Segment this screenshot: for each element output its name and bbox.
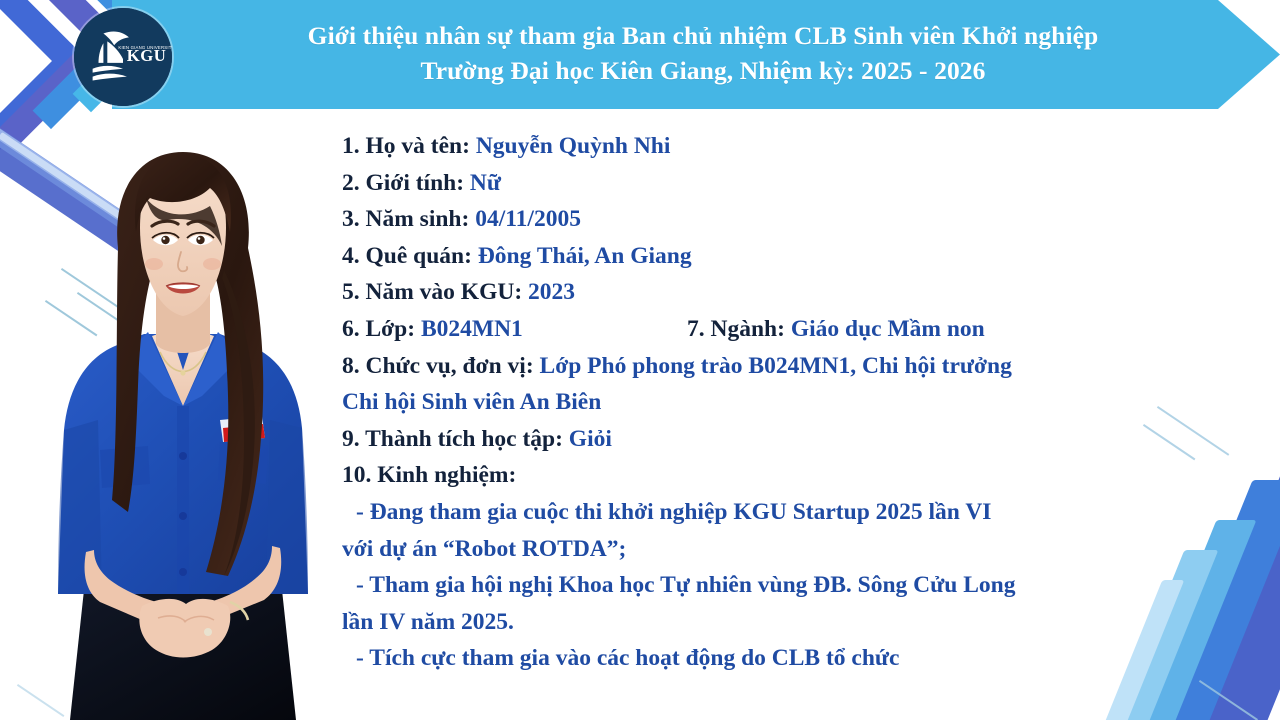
field-number: 8. bbox=[342, 353, 360, 379]
info-row-experience-heading: 10. Kinh nghiệm: bbox=[342, 457, 1247, 494]
field-number: 2. bbox=[342, 170, 360, 196]
info-row-position: 8. Chức vụ, đơn vị: Lớp Phó phong trào B… bbox=[342, 348, 1247, 385]
info-cell-major: 7. Ngành: Giáo dục Mầm non bbox=[687, 311, 1247, 348]
info-row-name: 1. Họ và tên: Nguyễn Quỳnh Nhi bbox=[342, 128, 1247, 165]
experience-item: - Đang tham gia cuộc thi khởi nghiệp KGU… bbox=[342, 494, 1247, 567]
field-label: Thành tích học tập: bbox=[365, 426, 563, 452]
member-info-block: 1. Họ và tên: Nguyễn Quỳnh Nhi 2. Giới t… bbox=[342, 128, 1247, 677]
field-value: Nguyễn Quỳnh Nhi bbox=[476, 133, 671, 159]
info-row-class-and-major: 6. Lớp: B024MN1 7. Ngành: Giáo dục Mầm n… bbox=[342, 311, 1247, 348]
field-label: Lớp: bbox=[366, 316, 416, 342]
svg-text:KIEN GIANG UNIVERSITY: KIEN GIANG UNIVERSITY bbox=[118, 45, 172, 50]
kgu-logo-icon: KGU KIEN GIANG UNIVERSITY bbox=[74, 8, 172, 106]
experience-item: - Tích cực tham gia vào các hoạt động do… bbox=[342, 640, 1247, 677]
field-label: Năm vào KGU: bbox=[366, 279, 523, 305]
experience-line: - Đang tham gia cuộc thi khởi nghiệp KGU… bbox=[356, 494, 1247, 531]
experience-item: - Tham gia hội nghị Khoa học Tự nhiên vù… bbox=[342, 567, 1247, 640]
field-number: 9. bbox=[342, 426, 360, 452]
header-banner: Giới thiệu nhân sự tham gia Ban chủ nhiệ… bbox=[112, 0, 1280, 109]
field-value: Giáo dục Mầm non bbox=[791, 316, 985, 342]
field-label: Chức vụ, đơn vị: bbox=[366, 353, 534, 379]
field-number: 10. bbox=[342, 462, 371, 488]
field-label: Năm sinh: bbox=[366, 206, 470, 232]
info-row-achievement: 9. Thành tích học tập: Giỏi bbox=[342, 421, 1247, 458]
info-row-birthyear: 3. Năm sinh: 04/11/2005 bbox=[342, 201, 1247, 238]
info-row-hometown: 4. Quê quán: Đông Thái, An Giang bbox=[342, 238, 1247, 275]
field-number: 4. bbox=[342, 243, 360, 269]
field-number: 1. bbox=[342, 133, 360, 159]
slide-canvas: Giới thiệu nhân sự tham gia Ban chủ nhiệ… bbox=[0, 0, 1280, 720]
header-title-line2: Trường Đại học Kiên Giang, Nhiệm kỳ: 202… bbox=[308, 54, 1099, 88]
info-cell-class: 6. Lớp: B024MN1 bbox=[342, 311, 687, 348]
field-value: Giỏi bbox=[569, 426, 612, 452]
field-label: Họ và tên: bbox=[366, 133, 470, 159]
field-number: 7. bbox=[687, 316, 705, 342]
field-value: B024MN1 bbox=[421, 316, 523, 342]
field-value: 04/11/2005 bbox=[475, 206, 581, 232]
header-title-line1: Giới thiệu nhân sự tham gia Ban chủ nhiệ… bbox=[308, 21, 1099, 50]
field-value: 2023 bbox=[528, 279, 575, 305]
hairline bbox=[1199, 680, 1258, 720]
field-label: Giới tính: bbox=[366, 170, 465, 196]
field-number: 3. bbox=[342, 206, 360, 232]
field-value-continued: Chi hội Sinh viên An Biên bbox=[342, 389, 601, 415]
experience-line: với dự án “Robot ROTDA”; bbox=[342, 531, 1247, 568]
field-label: Quê quán: bbox=[366, 243, 472, 269]
header-title: Giới thiệu nhân sự tham gia Ban chủ nhiệ… bbox=[308, 19, 1099, 87]
experience-line: lần IV năm 2025. bbox=[342, 604, 1247, 641]
experience-line: - Tích cực tham gia vào các hoạt động do… bbox=[356, 640, 1247, 677]
field-value: Đông Thái, An Giang bbox=[478, 243, 692, 269]
info-row-position-continued: Chi hội Sinh viên An Biên bbox=[342, 384, 1247, 421]
field-value: Lớp Phó phong trào B024MN1, Chi hội trưở… bbox=[540, 353, 1012, 379]
field-number: 5. bbox=[342, 279, 360, 305]
field-value: Nữ bbox=[470, 170, 501, 196]
field-label: Kinh nghiệm: bbox=[377, 462, 516, 488]
field-number: 6. bbox=[342, 316, 360, 342]
member-portrait-photo bbox=[24, 120, 340, 720]
field-label: Ngành: bbox=[711, 316, 785, 342]
info-row-gender: 2. Giới tính: Nữ bbox=[342, 165, 1247, 202]
info-row-enrollment-year: 5. Năm vào KGU: 2023 bbox=[342, 274, 1247, 311]
experience-line: - Tham gia hội nghị Khoa học Tự nhiên vù… bbox=[356, 567, 1247, 604]
